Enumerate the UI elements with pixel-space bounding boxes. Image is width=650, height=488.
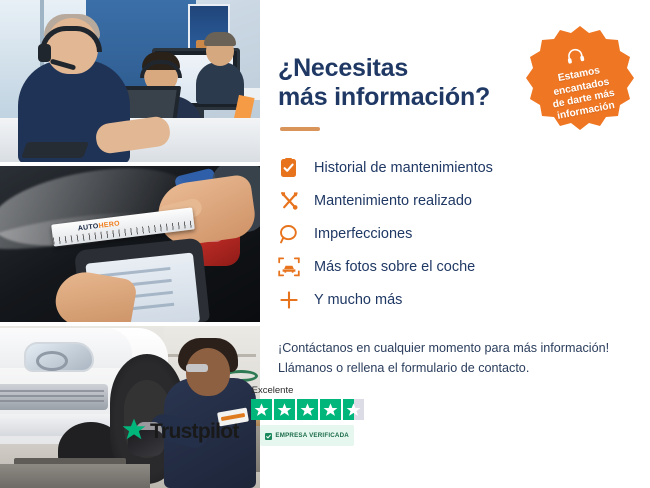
heading-line-1: ¿Necesitas (278, 54, 408, 82)
list-item: Historial de mantenimientos (278, 151, 626, 184)
list-item-label: Mantenimiento realizado (314, 193, 472, 209)
star-filled (320, 399, 341, 420)
plus-icon (278, 289, 300, 311)
star-partial (343, 399, 364, 420)
list-item: Mantenimiento realizado (278, 184, 626, 217)
star-rating (251, 399, 364, 420)
car-scan-icon (278, 256, 300, 278)
trustpilot-logo[interactable]: Trustpilot (122, 418, 239, 446)
paragraph-line-1: ¡Contáctanos en cualquier momento para m… (278, 341, 609, 355)
check-square-icon (265, 427, 272, 445)
list-item-label: Y mucho más (314, 292, 402, 308)
star-filled (274, 399, 295, 420)
heading-line-2: más información? (278, 83, 490, 111)
feature-list: Historial de mantenimientos Mantenimient… (278, 151, 626, 316)
list-item-label: Más fotos sobre el coche (314, 259, 475, 275)
status-badge: EMPRESA VERIFICADA (260, 425, 354, 446)
star-filled (251, 399, 272, 420)
heading-underline (280, 127, 320, 131)
page-title: ¿Necesitas más información? (278, 54, 498, 111)
list-item: Imperfecciones (278, 217, 626, 250)
list-item: Y mucho más (278, 283, 626, 316)
ruler-brand-suffix: HERO (98, 220, 120, 230)
call-center-agents-photo (0, 0, 260, 162)
ruler-brand-prefix: AUTO (77, 223, 99, 232)
list-item: Más fotos sobre el coche (278, 250, 626, 283)
trustpilot-rating[interactable]: Trustpilot Excelente (122, 385, 364, 446)
promo-banner: AUTOHERO (0, 0, 650, 488)
magnifier-icon (278, 223, 300, 245)
star-filled (297, 399, 318, 420)
list-item-label: Historial de mantenimientos (314, 160, 493, 176)
wrench-screwdriver-icon (278, 190, 300, 212)
verified-label: EMPRESA VERIFICADA (275, 432, 349, 439)
trustpilot-wordmark: Trustpilot (150, 420, 239, 444)
trustpilot-star-icon (122, 418, 146, 446)
checklist-document-icon (278, 157, 300, 179)
status-badge: Estamos encantados de darte más informac… (524, 24, 636, 136)
car-inspection-ruler-photo: AUTOHERO (0, 166, 260, 322)
list-item-label: Imperfecciones (314, 226, 412, 242)
paragraph-line-2: Llámanos o rellena el formulario de cont… (278, 361, 529, 375)
contact-paragraph: ¡Contáctanos en cualquier momento para m… (278, 338, 626, 379)
rating-label: Excelente (252, 385, 294, 396)
headset-icon (565, 46, 587, 70)
